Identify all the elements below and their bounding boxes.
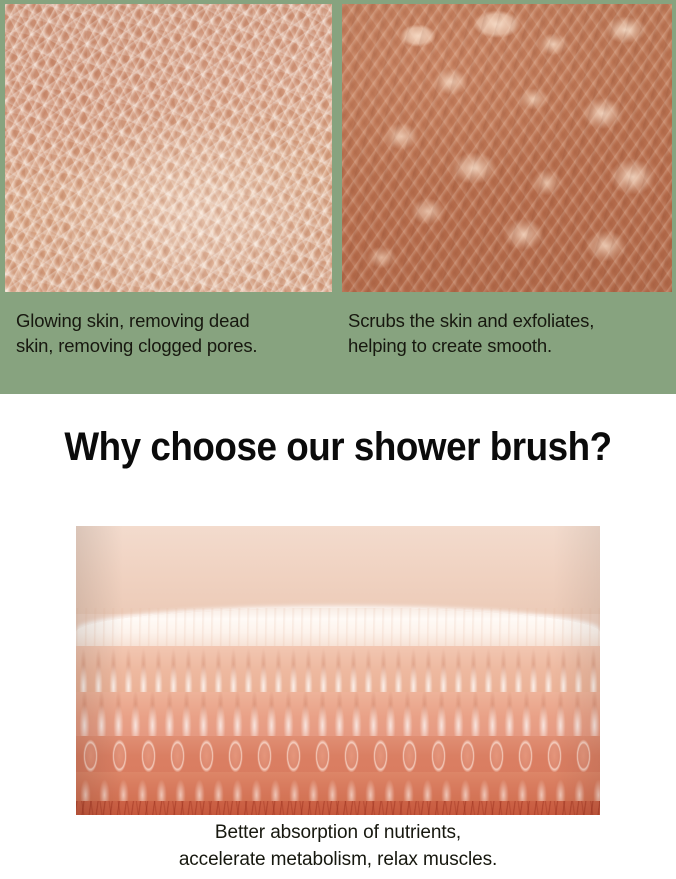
dry-skin-photo (5, 4, 332, 292)
dermis-layer (76, 801, 600, 815)
granular-cells (76, 692, 600, 740)
flaking-skin-texture (342, 4, 672, 292)
diagram-caption-line-2: accelerate metabolism, relax muscles. (0, 846, 676, 873)
right-caption-line-1: Scrubs the skin and exfoliates, (348, 308, 670, 333)
left-caption-line-1: Glowing skin, removing dead (16, 308, 334, 333)
capillary-layer (76, 736, 600, 776)
granular-layer (76, 692, 600, 740)
epidermis-cells (76, 646, 600, 696)
left-caption: Glowing skin, removing dead skin, removi… (16, 308, 334, 358)
right-caption: Scrubs the skin and exfoliates, helping … (348, 308, 670, 358)
comparison-captions: Glowing skin, removing dead skin, removi… (0, 292, 676, 394)
stratum-corneum-layer (76, 608, 600, 650)
page-headline: Why choose our shower brush? (27, 425, 649, 470)
comparison-photo-row (0, 0, 676, 292)
dermis-fibers (76, 801, 600, 815)
flaking-skin-photo (342, 4, 672, 292)
left-caption-line-2: skin, removing clogged pores. (16, 333, 334, 358)
skin-cross-section-image (76, 526, 600, 815)
dry-skin-texture (5, 4, 332, 292)
capillary-ovals (76, 736, 600, 776)
epidermis-layer (76, 646, 600, 696)
diagram-caption-line-1: Better absorption of nutrients, (0, 819, 676, 846)
diagram-caption: Better absorption of nutrients, accelera… (0, 819, 676, 873)
comparison-banner: Glowing skin, removing dead skin, removi… (0, 0, 676, 394)
skin-surface-background (76, 526, 600, 614)
right-caption-line-2: helping to create smooth. (348, 333, 670, 358)
